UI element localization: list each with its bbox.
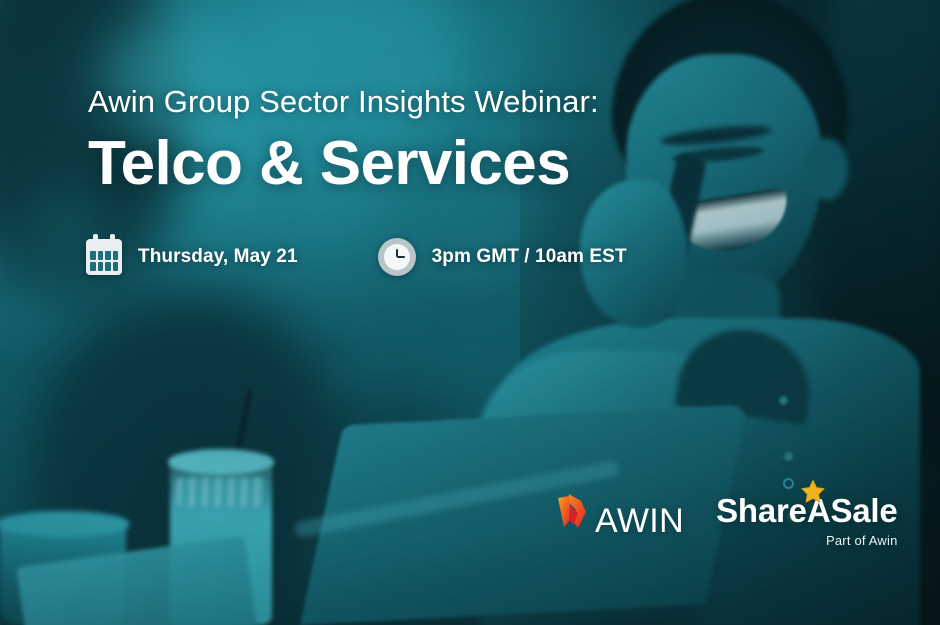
event-meta: Thursday, May 21 3pm GMT / 10am EST <box>86 238 627 276</box>
logo-lockup: AWIN ShareASale Part of Awin <box>556 492 898 548</box>
banner-eyebrow: Awin Group Sector Insights Webinar: <box>88 84 599 120</box>
awin-flame-icon <box>556 492 590 536</box>
banner-headline: Telco & Services <box>88 132 570 196</box>
event-date-label: Thursday, May 21 <box>138 246 298 268</box>
event-date: Thursday, May 21 <box>86 239 298 275</box>
star-icon <box>800 479 826 505</box>
shareasale-tagline: Part of Awin <box>716 533 897 548</box>
shareasale-logo: ShareASale Part of Awin <box>716 492 897 548</box>
event-time-label: 3pm GMT / 10am EST <box>432 246 627 268</box>
event-time: 3pm GMT / 10am EST <box>378 238 627 276</box>
shareasale-ring-icon <box>783 478 794 489</box>
calendar-icon <box>86 239 122 275</box>
banner-content: Awin Group Sector Insights Webinar: Telc… <box>0 0 940 625</box>
webinar-promo-banner: Awin Group Sector Insights Webinar: Telc… <box>0 0 940 625</box>
awin-logo: AWIN <box>556 492 684 536</box>
clock-icon <box>378 238 416 276</box>
awin-wordmark: AWIN <box>595 504 684 538</box>
